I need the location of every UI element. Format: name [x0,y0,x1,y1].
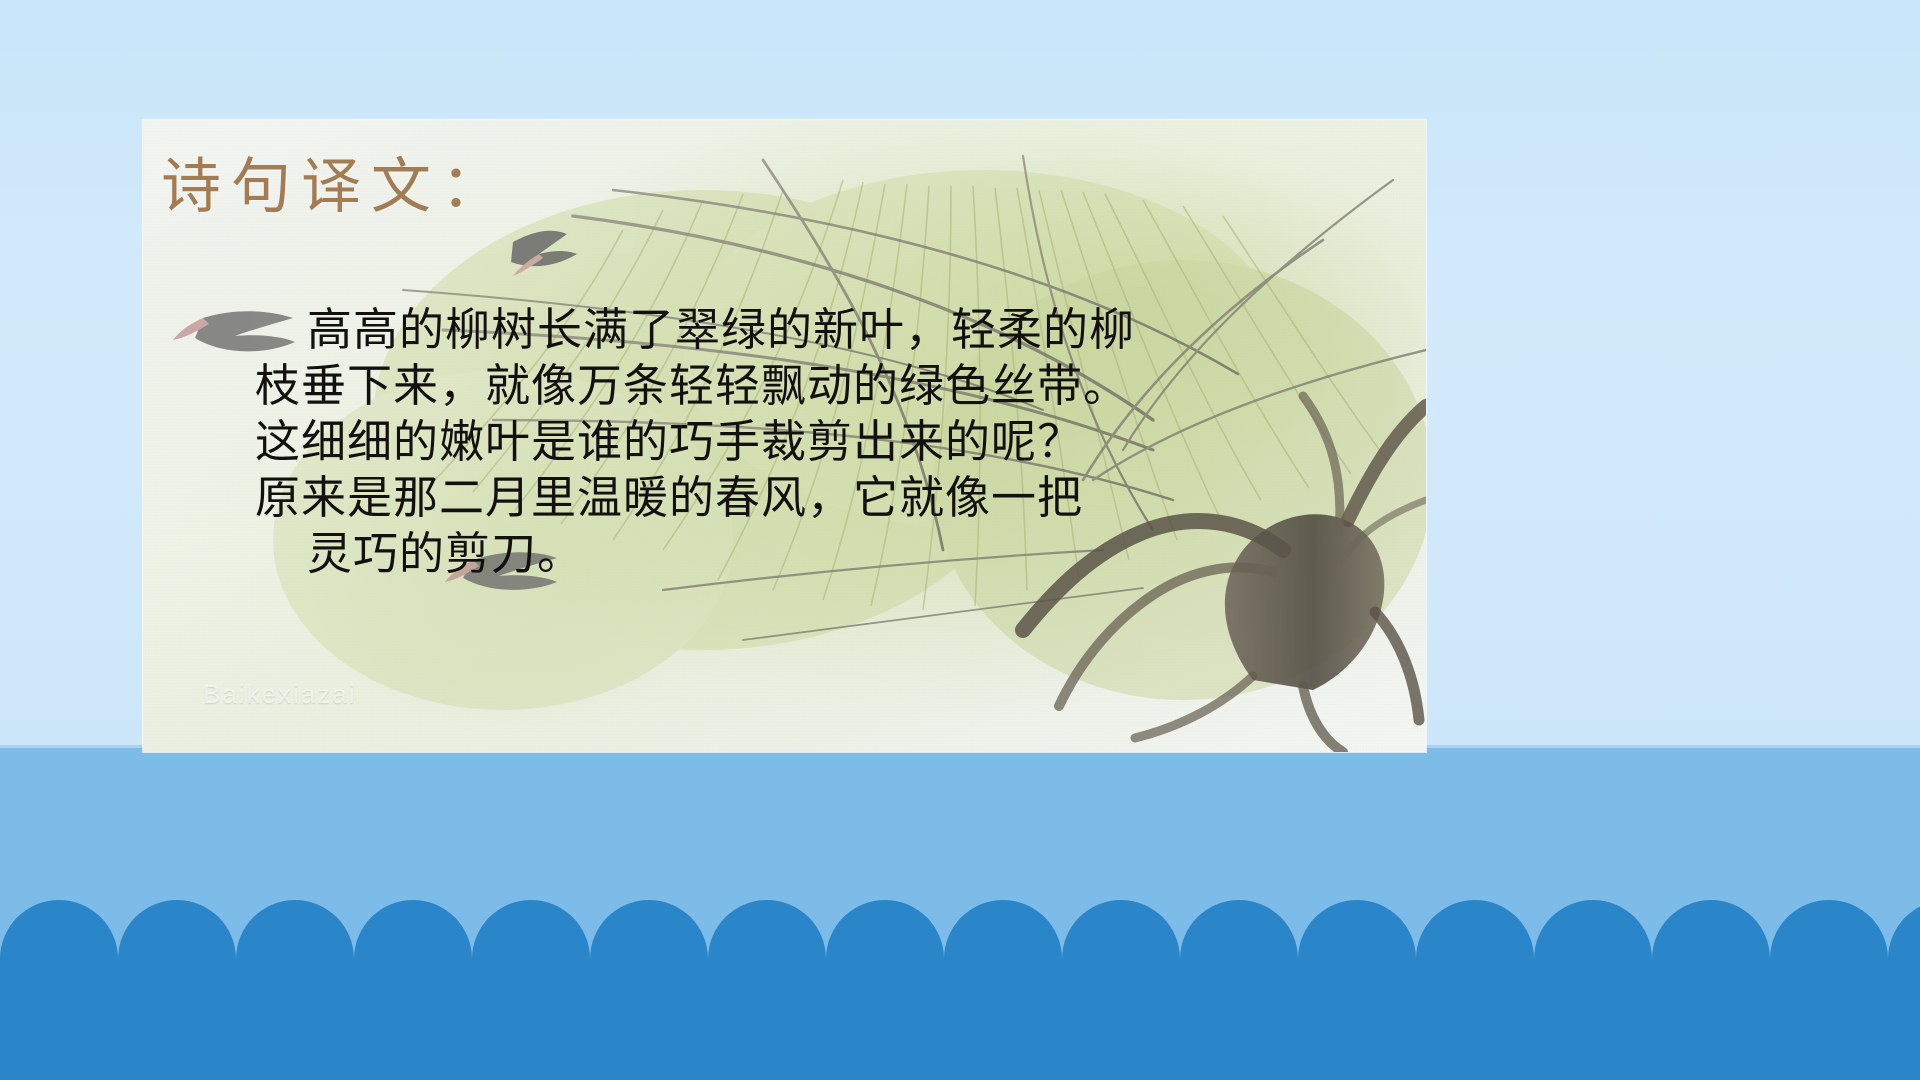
image-watermark: Baikexiazai [203,679,357,710]
arch-shape [649,968,767,1080]
arch-shape [59,968,177,1080]
arch-shape [0,968,59,1080]
translation-line: 高高的柳树长满了翠绿的新叶，轻柔的柳 [255,302,1265,358]
arch-shape [1121,968,1239,1080]
slide-canvas: 诗句译文： 高高的柳树长满了翠绿的新叶，轻柔的柳 枝垂下来，就像万条轻轻飘动的绿… [0,0,1920,1080]
translation-line: 枝垂下来，就像万条轻轻飘动的绿色丝带。 [255,358,1265,414]
arch-shape [295,968,413,1080]
arch-shape [1829,968,1920,1080]
translation-line: 原来是那二月里温暖的春风，它就像一把 [255,470,1265,526]
translation-image-panel: 诗句译文： 高高的柳树长满了翠绿的新叶，轻柔的柳 枝垂下来，就像万条轻轻飘动的绿… [143,120,1426,752]
translation-text-block: 高高的柳树长满了翠绿的新叶，轻柔的柳 枝垂下来，就像万条轻轻飘动的绿色丝带。 这… [255,302,1265,582]
arch-shape [531,968,649,1080]
translation-line: 这细细的嫩叶是谁的巧手裁剪出来的呢？ [255,414,1265,470]
page-title: 诗句译文： [161,138,511,225]
arch-row-front [0,968,1920,1080]
arch-shape [1003,968,1121,1080]
arch-shape [177,968,295,1080]
arch-shape [1711,968,1829,1080]
arch-shape [885,968,1003,1080]
arch-shape [1593,968,1711,1080]
arch-shape [413,968,531,1080]
arch-shape [767,968,885,1080]
translation-line: 灵巧的剪刀。 [255,526,1265,582]
arch-shape [1239,968,1357,1080]
arch-shape [1357,968,1475,1080]
arch-shape [1475,968,1593,1080]
